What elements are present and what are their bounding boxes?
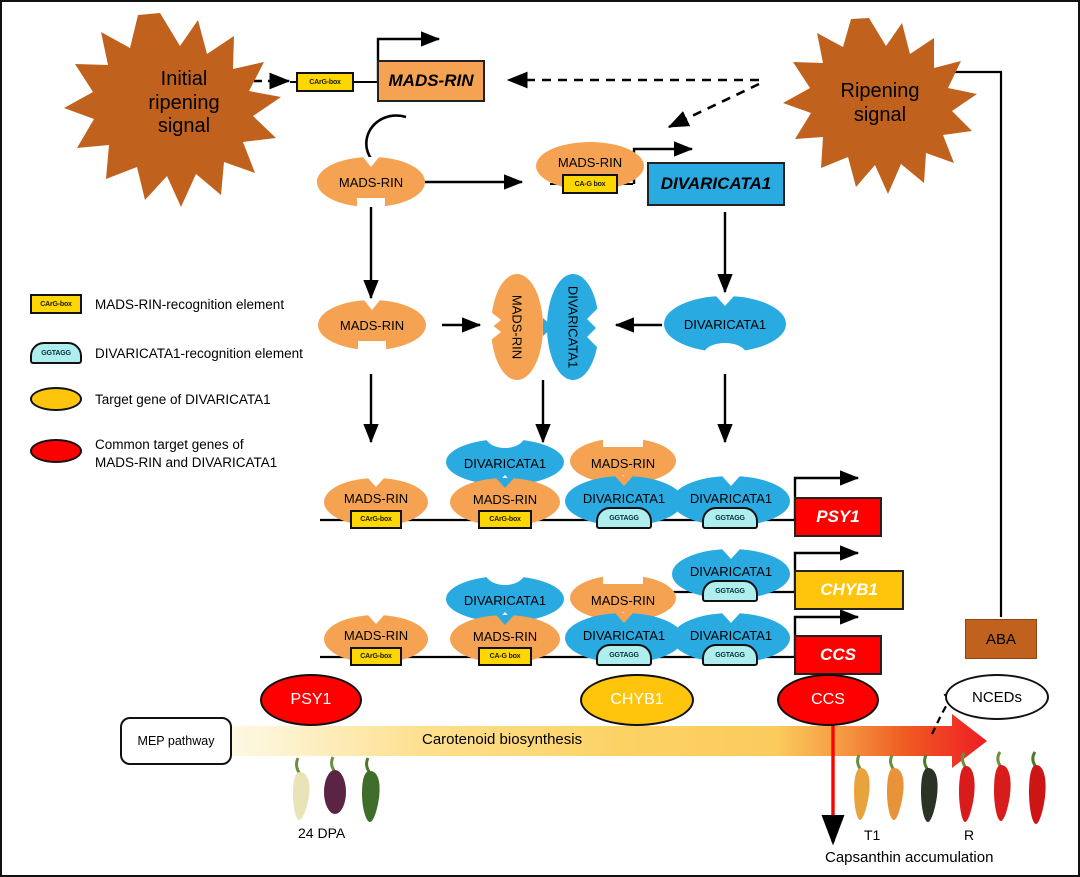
legend-swatch-common-target-genes — [30, 439, 82, 463]
legend-swatch-target-gene — [30, 387, 82, 411]
carg-box-mads-rin-promoter: CArG-box — [296, 72, 354, 92]
psy1-site4-ggtagg-box: GGTAGG — [702, 507, 758, 529]
chyb1-site1-ggtagg-box: GGTAGG — [702, 580, 758, 602]
carg-box-text: CA-G box — [575, 181, 606, 188]
psy1-site1-carg-box: CArG-box — [350, 510, 402, 529]
ccs-site2-carg-box: CA-G box — [478, 647, 532, 666]
enzyme-ellipse-ccs: CCS — [777, 674, 879, 726]
psy1-site2-carg-box: CArG-box — [478, 510, 532, 529]
protein-mads-rin-middle: MADS-RIN — [318, 300, 426, 350]
protein-complex-mads-rin-divaricata1: MADS-RIN DIVARICATA1 — [480, 274, 616, 380]
legend-label-carg-box: MADS-RIN-recognition element — [95, 296, 284, 314]
ccs-site4-ggtagg-box: GGTAGG — [702, 644, 758, 666]
complex-mads-rin-label: MADS-RIN — [510, 295, 525, 359]
protein-divaricata1-middle: DIVARICATA1 — [664, 296, 786, 352]
pepper-group-24dpa — [284, 754, 390, 824]
initial-ripening-signal-label: Initial ripening signal — [94, 68, 274, 139]
nceds-ellipse: NCEDs — [945, 674, 1049, 720]
carotenoid-biosynthesis-label: Carotenoid biosynthesis — [422, 731, 582, 748]
stage-label-r: R — [964, 827, 974, 843]
ripening-signal-label: Ripening signal — [790, 80, 970, 127]
enzyme-ellipse-chyb1: CHYB1 — [580, 674, 694, 726]
carg-box-divaricata1-promoter: CA-G box — [562, 174, 618, 194]
capsanthin-accumulation-label: Capsanthin accumulation — [825, 849, 993, 866]
stage-label-t1: T1 — [864, 827, 880, 843]
legend-label-target-gene: Target gene of DIVARICATA1 — [95, 391, 271, 409]
enzyme-ellipse-psy1: PSY1 — [260, 674, 362, 726]
complex-divaricata1-label: DIVARICATA1 — [566, 286, 581, 368]
psy1-site3-ggtagg-box: GGTAGG — [596, 507, 652, 529]
gene-box-divaricata1: DIVARICATA1 — [647, 162, 785, 206]
protein-mads-rin-upper: MADS-RIN — [317, 157, 425, 207]
gene-box-chyb1: CHYB1 — [794, 570, 904, 610]
legend-label-ggtagg-box: DIVARICATA1-recognition element — [95, 345, 303, 363]
gene-box-ccs: CCS — [794, 635, 882, 675]
legend-swatch-ggtagg-box: GGTAGG — [30, 342, 82, 364]
gene-box-mads-rin: MADS-RIN — [377, 60, 485, 102]
pepper-group-r — [952, 750, 1048, 826]
ccs-site1-carg-box: CArG-box — [350, 647, 402, 666]
gene-box-psy1: PSY1 — [794, 497, 882, 537]
carg-box-text: CArG-box — [309, 79, 340, 86]
stage-label-24dpa: 24 DPA — [298, 825, 345, 841]
aba-box: ABA — [965, 619, 1037, 659]
mep-pathway-box: MEP pathway — [120, 717, 232, 765]
legend-swatch-carg-box: CArG-box — [30, 294, 82, 314]
ccs-site3-ggtagg-box: GGTAGG — [596, 644, 652, 666]
pepper-group-t1 — [847, 752, 943, 824]
legend-label-common-target-genes: Common target genes of MADS-RIN and DIVA… — [95, 436, 277, 472]
pathway-figure: Initial ripening signal Ripening signal … — [0, 0, 1080, 877]
